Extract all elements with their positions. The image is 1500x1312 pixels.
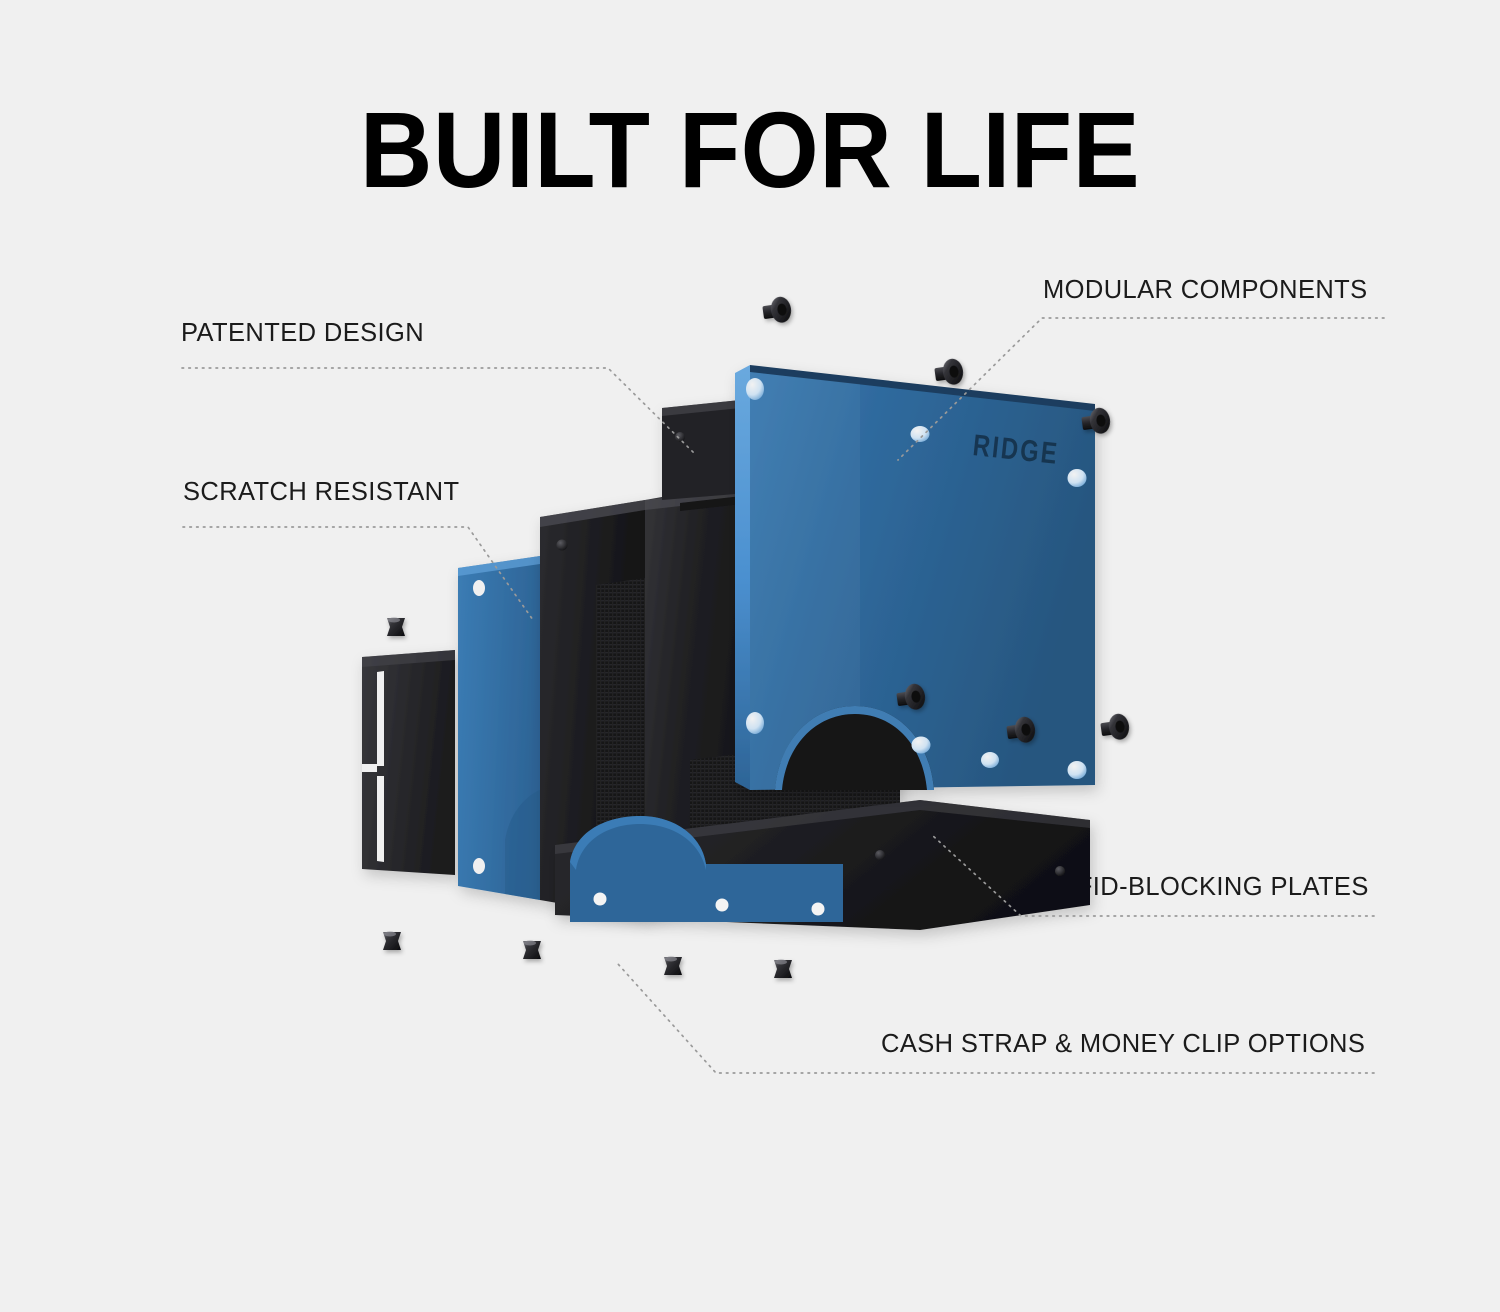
screw xyxy=(523,941,541,960)
screw xyxy=(774,960,792,979)
exploded-wallet-illustration: RIDGE xyxy=(0,0,1500,1312)
screw xyxy=(1099,712,1130,742)
screw xyxy=(933,357,964,387)
component-money-clip xyxy=(362,650,455,875)
component-rear-blue-plate xyxy=(458,556,540,900)
component-front-blue-plate: RIDGE xyxy=(735,365,1095,790)
screw xyxy=(761,295,792,325)
screw xyxy=(387,618,405,637)
screw xyxy=(383,932,401,951)
product-feature-graphic: BUILT FOR LIFE xyxy=(0,0,1500,1312)
screw xyxy=(664,957,682,976)
